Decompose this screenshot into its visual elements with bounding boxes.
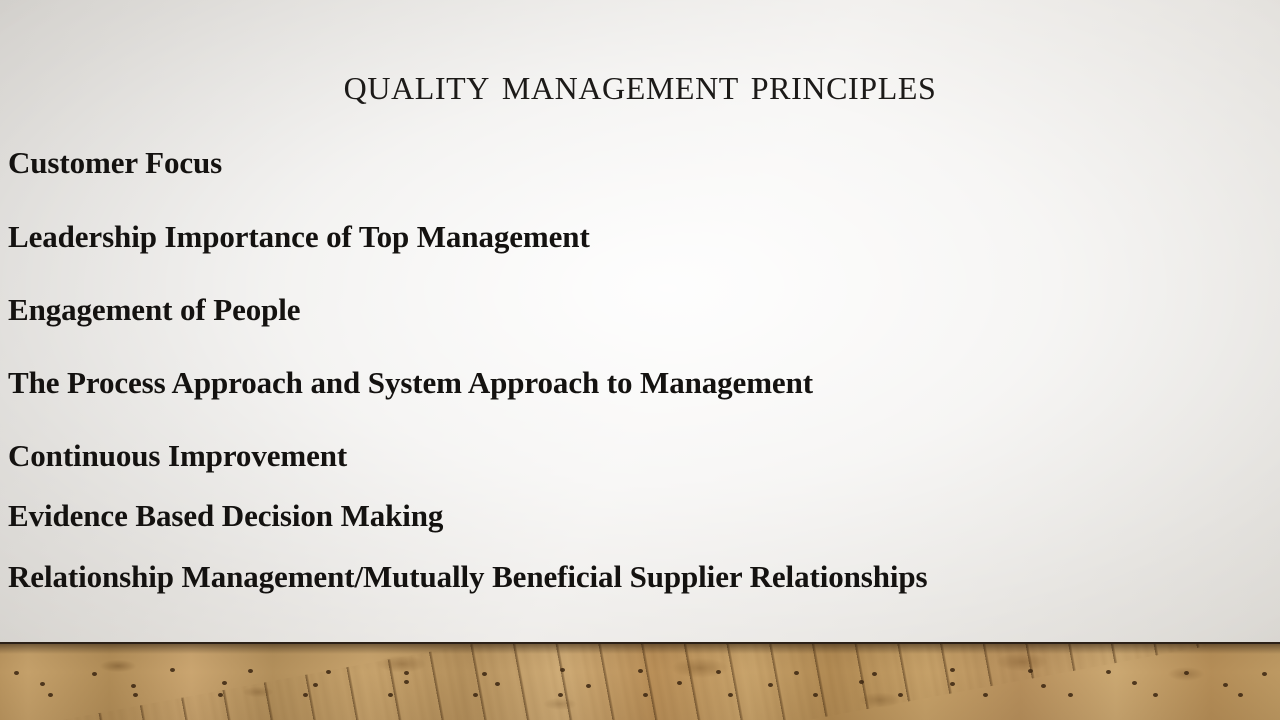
wood-nail-hole	[482, 672, 487, 676]
wood-nail-hole	[950, 682, 955, 686]
wood-nail-hole	[131, 684, 136, 688]
wood-nail-hole	[1041, 684, 1046, 688]
wood-nail-hole	[813, 693, 818, 697]
wood-nail-hole	[170, 668, 175, 672]
wood-nail-hole	[794, 671, 799, 675]
principles-list: Customer Focus Leadership Importance of …	[8, 144, 1272, 595]
wood-nail-hole	[388, 693, 393, 697]
wood-nail-hole	[872, 672, 877, 676]
wood-nail-hole	[326, 670, 331, 674]
wood-nail-hole	[558, 693, 563, 697]
list-item-principle-1: Customer Focus	[8, 144, 1272, 181]
list-item-principle-4: The Process Approach and System Approach…	[8, 364, 1272, 401]
wood-nail-hole	[218, 693, 223, 697]
wood-nail-hole	[48, 693, 53, 697]
wood-nail-hole	[859, 680, 864, 684]
presentation-slide: Quality Management Principles Customer F…	[0, 0, 1280, 720]
slide-title: Quality Management Principles	[0, 56, 1280, 112]
wood-nail-hole	[14, 671, 19, 675]
wood-nail-hole	[40, 682, 45, 686]
wood-nail-hole	[768, 683, 773, 687]
wood-top-shadow	[0, 644, 1280, 654]
wood-nail-hole	[638, 669, 643, 673]
list-item-principle-7: Relationship Management/Mutually Benefic…	[8, 558, 1272, 595]
wood-nail-hole	[1238, 693, 1243, 697]
wood-nail-hole	[303, 693, 308, 697]
wood-nail-hole	[1262, 672, 1267, 676]
wood-nail-hole	[313, 683, 318, 687]
wood-nail-hole	[898, 693, 903, 697]
list-item-principle-5: Continuous Improvement	[8, 437, 1272, 474]
wood-floor-band	[0, 642, 1280, 720]
wood-nail-hole	[716, 670, 721, 674]
list-item-principle-3: Engagement of People	[8, 291, 1272, 328]
list-item-principle-6: Evidence Based Decision Making	[8, 497, 1272, 534]
wood-nail-hole	[1028, 669, 1033, 673]
wood-nail-hole	[92, 672, 97, 676]
wood-nail-hole	[1184, 671, 1189, 675]
wood-nail-hole	[1153, 693, 1158, 697]
wood-nail-hole	[404, 671, 409, 675]
wood-nail-hole	[495, 682, 500, 686]
wood-nail-hole	[248, 669, 253, 673]
wood-nail-hole	[728, 693, 733, 697]
wood-nail-hole	[1132, 681, 1137, 685]
wood-knot-stains	[0, 644, 1280, 720]
wood-nail-hole	[1223, 683, 1228, 687]
wood-nail-hole	[950, 668, 955, 672]
wood-nail-hole	[983, 693, 988, 697]
wood-nail-hole	[222, 681, 227, 685]
wood-nail-hole	[404, 680, 409, 684]
wood-nail-hole	[586, 684, 591, 688]
wood-nail-hole	[133, 693, 138, 697]
wood-nail-hole	[473, 693, 478, 697]
wood-nail-hole	[677, 681, 682, 685]
wood-nail-hole	[643, 693, 648, 697]
wood-nail-hole	[1068, 693, 1073, 697]
wood-nail-hole	[560, 668, 565, 672]
list-item-principle-2: Leadership Importance of Top Management	[8, 218, 1272, 255]
wood-nail-hole	[1106, 670, 1111, 674]
